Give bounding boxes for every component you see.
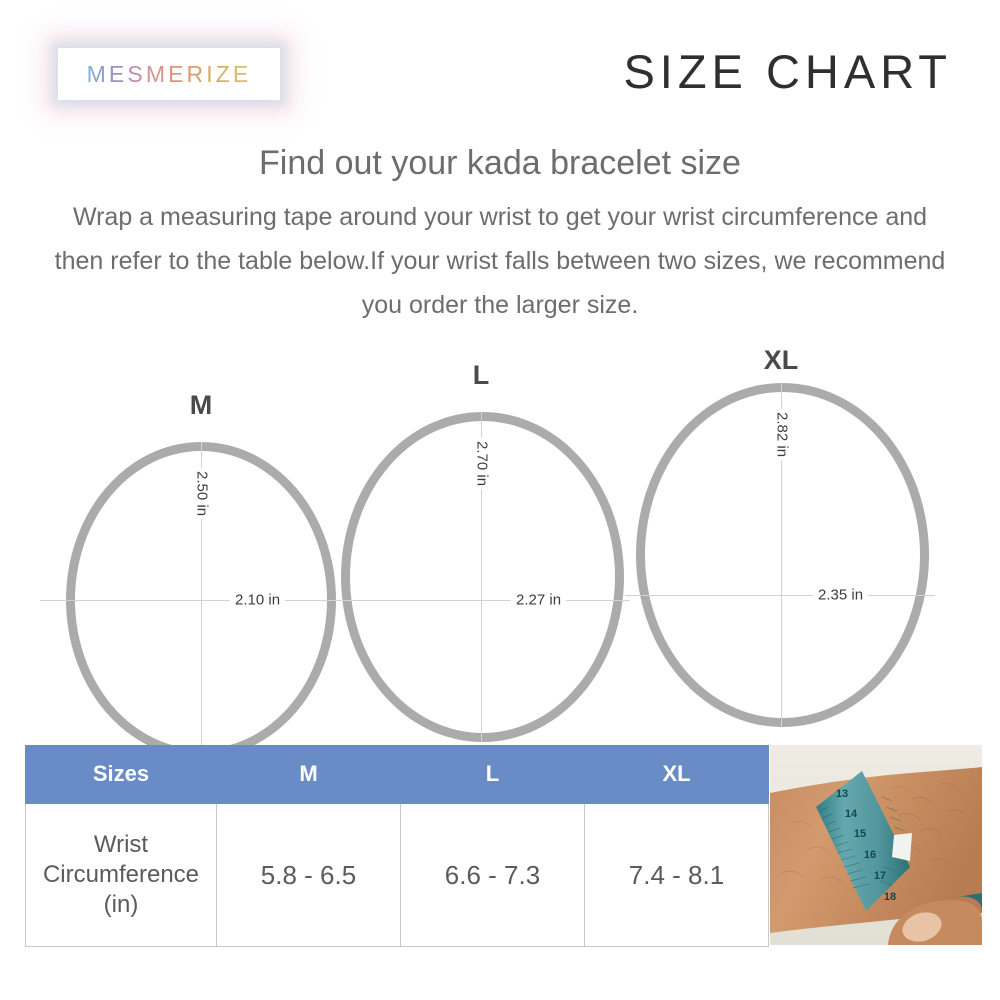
intro-section: Find out your kada bracelet size Wrap a …: [0, 143, 1000, 328]
dimension-height-xl: 2.82 in: [773, 409, 792, 460]
size-table: Sizes M L XL Wrist Circumference (in) 5.…: [25, 745, 769, 947]
table-row: Wrist Circumference (in) 5.8 - 6.5 6.6 -…: [26, 804, 769, 947]
size-diagrams: M 2.50 in 2.10 in L 2.70 in 2.27 in XL 2…: [0, 350, 1000, 745]
wrist-measurement-photo: 13 14 15 16 17 18: [770, 745, 982, 945]
dimension-width-xl: 2.35 in: [813, 586, 868, 605]
row-label-wrist-circumference: Wrist Circumference (in): [26, 804, 217, 947]
tape-mark-14: 14: [845, 808, 858, 820]
dimension-height-l: 2.70 in: [473, 438, 492, 489]
size-letter-l: L: [473, 360, 490, 391]
cell-wrist-circumference-l: 6.6 - 7.3: [401, 804, 585, 947]
table-header-row: Sizes M L XL: [26, 746, 769, 804]
table-header-m: M: [217, 746, 401, 804]
axis-horizontal-xl: [625, 595, 935, 596]
table-header-sizes: Sizes: [26, 746, 217, 804]
size-table-body: Wrist Circumference (in) 5.8 - 6.5 6.6 -…: [26, 804, 769, 947]
brand-logo: MESMERIZE: [58, 48, 280, 100]
size-table-container: Sizes M L XL Wrist Circumference (in) 5.…: [25, 745, 758, 947]
size-table-head: Sizes M L XL: [26, 746, 769, 804]
wrist-photo-illustration: 13 14 15 16 17 18: [770, 745, 982, 945]
tape-mark-17: 17: [874, 870, 886, 882]
tape-mark-18: 18: [884, 891, 896, 903]
page-header: MESMERIZE SIZE CHART: [0, 0, 1000, 130]
cell-wrist-circumference-xl: 7.4 - 8.1: [585, 804, 769, 947]
tape-mark-16: 16: [864, 849, 876, 861]
size-figure-xl: XL 2.82 in 2.35 in: [625, 345, 965, 740]
size-figure-l: L 2.70 in 2.27 in: [325, 360, 655, 740]
dimension-width-m: 2.10 in: [230, 591, 285, 610]
page-title: SIZE CHART: [623, 44, 952, 99]
size-letter-m: M: [190, 390, 213, 421]
intro-heading: Find out your kada bracelet size: [0, 143, 1000, 184]
dimension-height-m: 2.50 in: [193, 468, 212, 519]
axis-horizontal-m: [40, 600, 330, 601]
cell-wrist-circumference-m: 5.8 - 6.5: [217, 804, 401, 947]
axis-horizontal-l: [325, 600, 630, 601]
size-letter-xl: XL: [764, 345, 799, 376]
size-figure-m: M 2.50 in 2.10 in: [40, 380, 360, 740]
tape-mark-15: 15: [854, 828, 866, 840]
brand-logo-text: MESMERIZE: [87, 61, 252, 88]
dimension-width-l: 2.27 in: [511, 591, 566, 610]
table-header-l: L: [401, 746, 585, 804]
table-header-xl: XL: [585, 746, 769, 804]
intro-paragraph: Wrap a measuring tape around your wrist …: [50, 196, 950, 327]
tape-mark-13: 13: [836, 788, 848, 800]
